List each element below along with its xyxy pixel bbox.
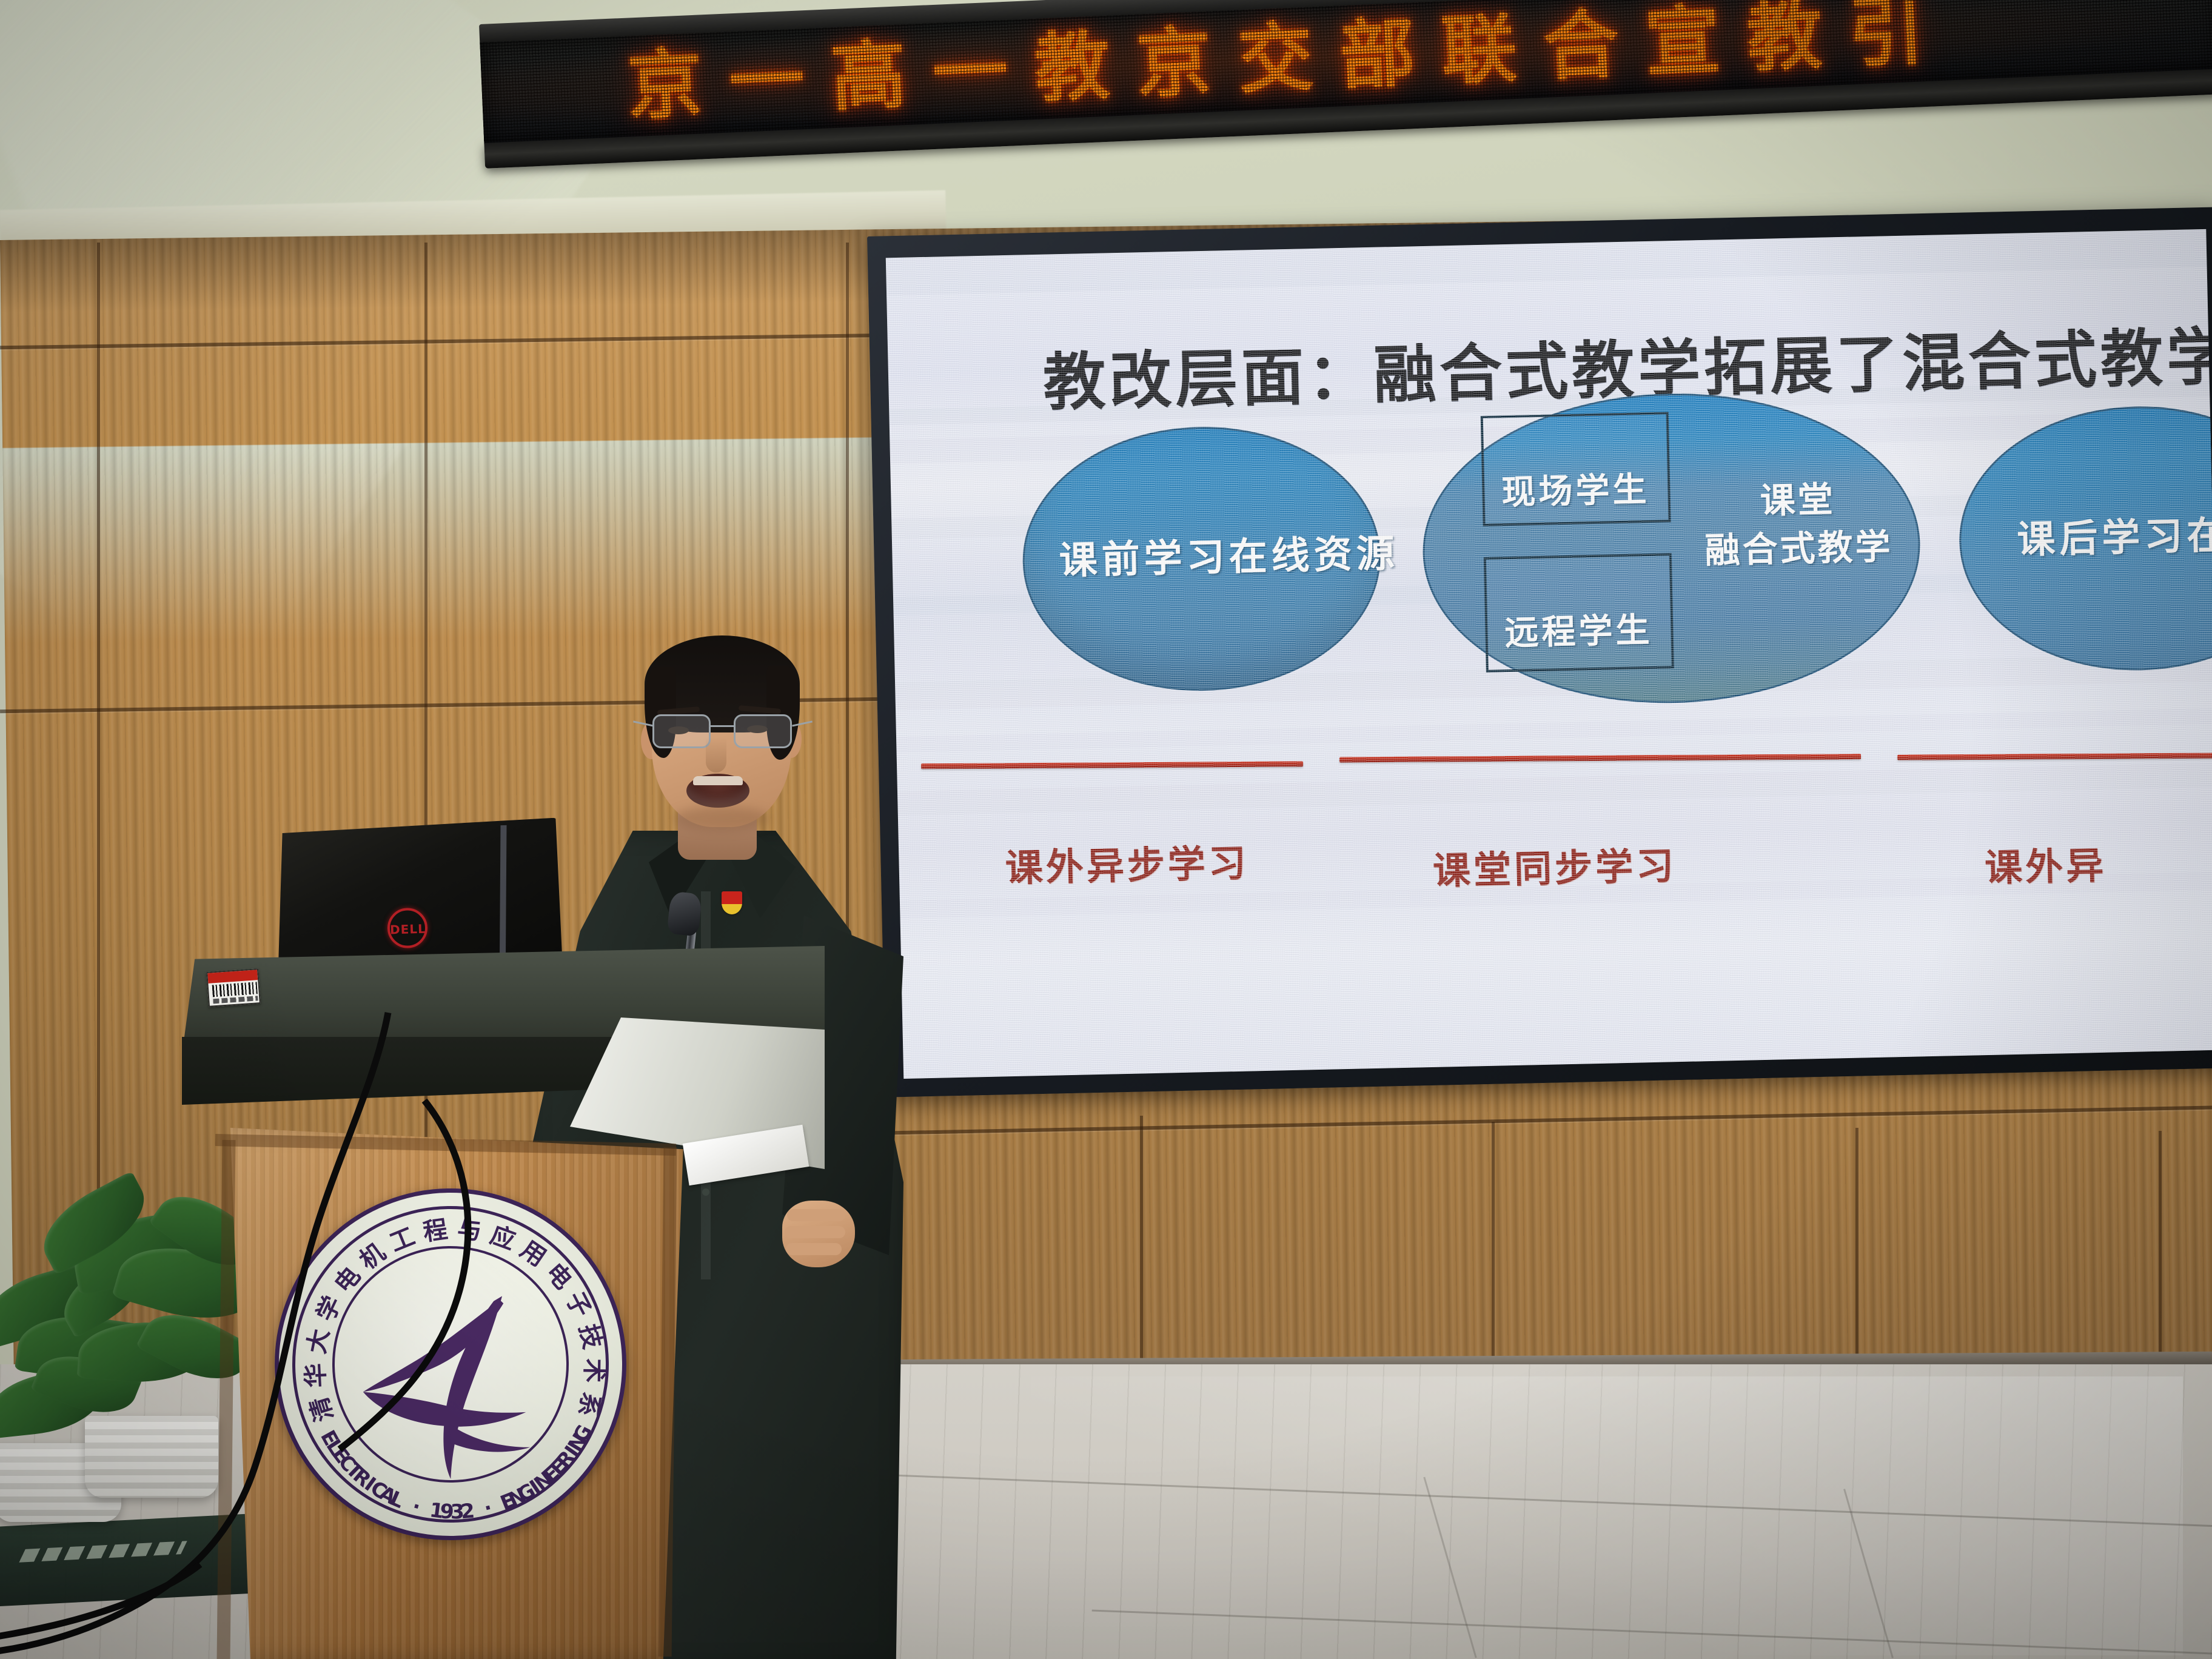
glasses-temple-left — [633, 720, 654, 726]
lecture-hall-photo: 京一高一教京交部联合宣教引 教改层面：融合式教学拓展了混合式教学的模 课前学习在… — [0, 0, 2212, 1659]
slide-foot-label-async-outside: 课外异步学习 — [1005, 833, 1250, 893]
slide-divider-line — [921, 761, 1303, 769]
podium-frame-left — [216, 1140, 235, 1659]
slide-box-label-onsite-students: 现场学生 — [1501, 462, 1650, 514]
barcode-icon — [212, 982, 258, 997]
screen-band — [897, 763, 2212, 816]
asset-label-text — [213, 996, 258, 1004]
lectern-podium: 清华大学电机工程与应用电子技术系 ELECTRICAL · 1932 · ENG… — [182, 946, 837, 1659]
wall-seam-vertical — [2159, 1131, 2162, 1373]
wall-seam-vertical — [97, 243, 100, 1334]
slide-surface: 教改层面：融合式教学拓展了混合式教学的模 课前学习在线资源 现场学生 远程学生 … — [886, 229, 2212, 1079]
slide-ellipse-label-post-class: 课后学习在 — [2016, 504, 2212, 565]
glasses-lens-left — [652, 714, 711, 748]
slide-ellipse-label-in-class-line2: 融合式教学 — [1686, 522, 1912, 575]
emblem-arc-char: · — [410, 1494, 424, 1519]
wall-seam-vertical — [1492, 1122, 1495, 1364]
emblem-arc-char: · — [481, 1495, 494, 1520]
slide-ellipse-label-pre-class: 课前学习在线资源 — [1059, 523, 1399, 585]
wall-seam-vertical — [1140, 1116, 1143, 1358]
glasses-lens-right — [734, 714, 792, 748]
asset-label-header — [207, 970, 258, 984]
projection-screen: 教改层面：融合式教学拓展了混合式教学的模 课前学习在线资源 现场学生 远程学生 … — [867, 207, 2212, 1097]
slide-divider-line — [1339, 754, 1861, 762]
lapel-pin-badge — [722, 891, 742, 914]
microphone-head — [666, 891, 702, 936]
slide-divider-line — [1897, 752, 2212, 760]
slide-box-label-remote-students: 远程学生 — [1504, 603, 1654, 655]
glasses-bridge — [711, 725, 734, 727]
presenter-teeth — [693, 776, 743, 785]
presenter-chin-shadow — [673, 806, 770, 831]
screen-band — [896, 708, 2212, 753]
department-emblem: 清华大学电机工程与应用电子技术系 ELECTRICAL · 1932 · ENG… — [272, 1185, 629, 1543]
asset-label-tag — [206, 968, 261, 1007]
wall-seam-vertical — [1855, 1128, 1858, 1370]
emblem-arc-text-en: ELECTRICAL · 1932 · ENGINEERING — [276, 1190, 634, 1547]
slide-ellipse-label-in-class-line1: 课堂 — [1685, 474, 1911, 527]
glasses-temple-right — [792, 720, 813, 726]
presenter-nose — [706, 737, 726, 773]
emblem-arc-char: 2 — [460, 1498, 475, 1523]
slide-ellipse-label-in-class: 课堂 融合式教学 — [1685, 474, 1911, 575]
slide-foot-label-async-outside-2: 课外异 — [1984, 835, 2107, 892]
slide-foot-label-sync-inclass: 课堂同步学习 — [1432, 835, 1677, 895]
